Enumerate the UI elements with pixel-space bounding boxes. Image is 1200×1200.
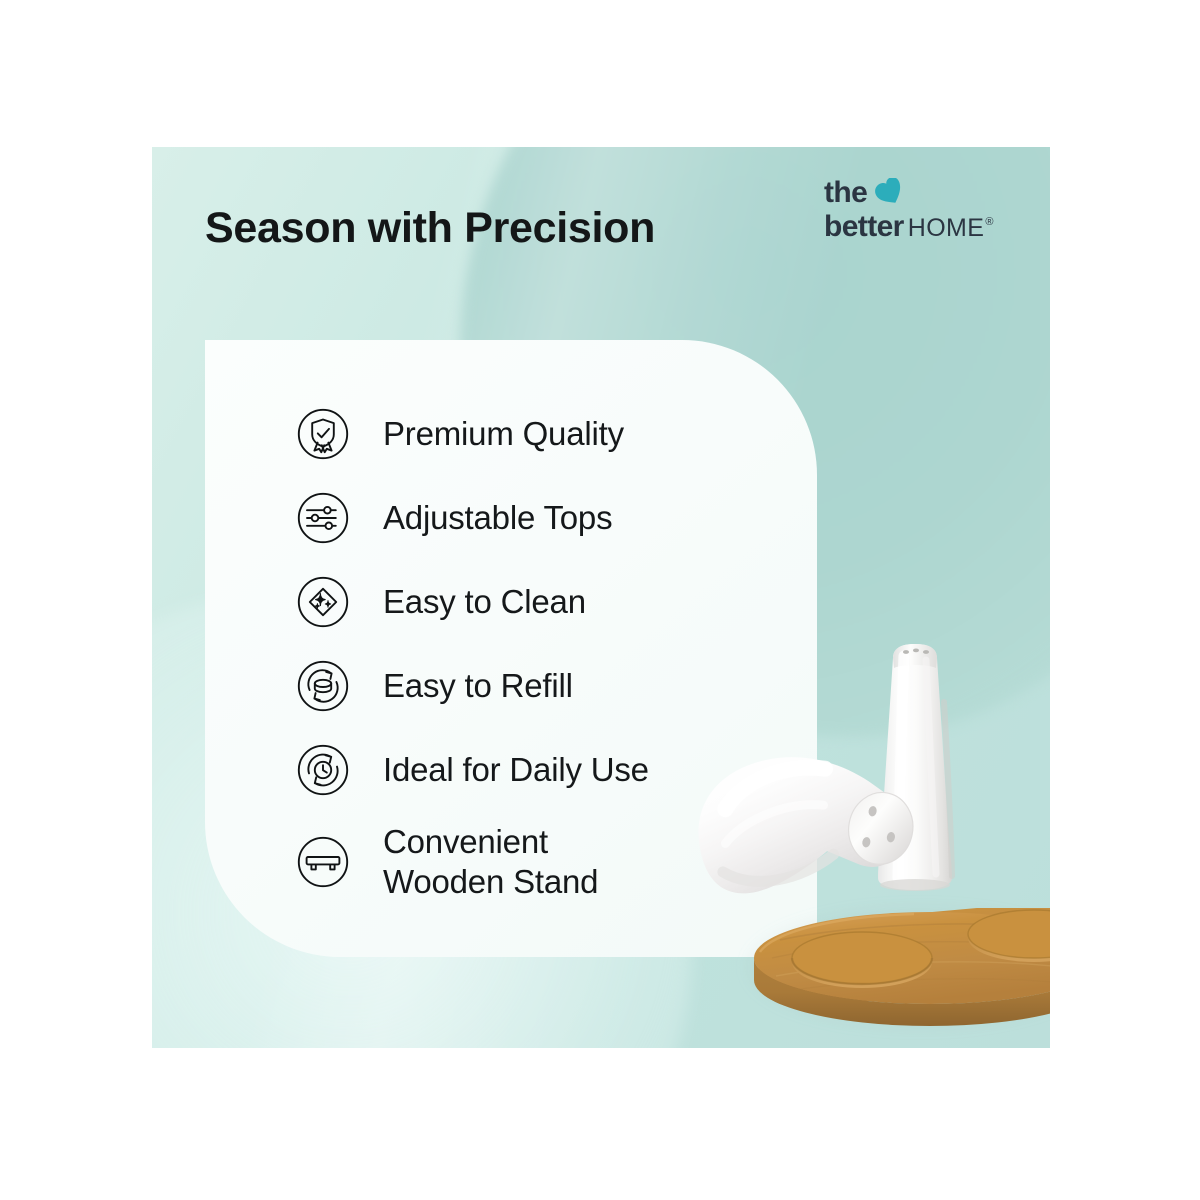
sliders-icon — [297, 492, 349, 544]
logo-line-two: better HOME ® — [824, 211, 1038, 244]
feature-label: Ideal for Daily Use — [383, 750, 649, 790]
logo-better-text: better — [824, 211, 904, 243]
clock-cycle-icon — [297, 744, 349, 796]
bottom-margin — [0, 1048, 1200, 1200]
salt-shaker — [674, 720, 962, 931]
feature-label: Convenient Wooden Stand — [383, 822, 598, 902]
feature-label: Easy to Refill — [383, 666, 573, 706]
badge-check-icon — [297, 408, 349, 460]
feature-label: Easy to Clean — [383, 582, 586, 622]
logo-the-text: the — [824, 178, 867, 208]
feature-item-adjustable-tops: Adjustable Tops — [297, 476, 797, 560]
stand-icon — [297, 836, 349, 888]
right-margin — [1050, 0, 1200, 1200]
brand-logo[interactable]: the better HOME ® — [824, 174, 1038, 250]
feature-item-premium-quality: Premium Quality — [297, 392, 797, 476]
sparkle-icon — [297, 576, 349, 628]
registered-mark: ® — [985, 217, 993, 228]
heart-icon — [874, 178, 904, 206]
logo-line-one: the — [824, 174, 1038, 208]
page-title: Season with Precision — [205, 204, 655, 253]
product-feature-banner: Season with Precision the better HOME ® — [0, 0, 1200, 1200]
product-photo — [660, 610, 1080, 1050]
logo-home-text: HOME — [908, 212, 985, 244]
feature-label: Adjustable Tops — [383, 498, 612, 538]
refill-cycle-icon — [297, 660, 349, 712]
feature-label: Premium Quality — [383, 414, 624, 454]
